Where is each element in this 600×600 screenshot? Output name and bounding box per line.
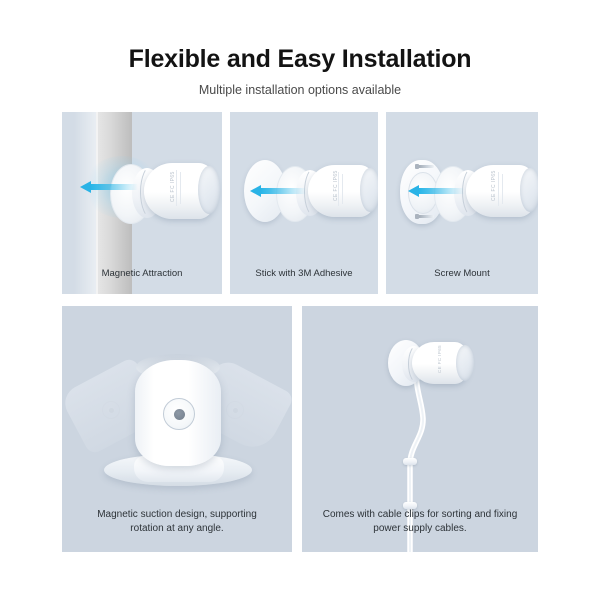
camera-lens-face: [520, 168, 538, 212]
camera-seam: [462, 167, 484, 217]
screw-icon: [418, 165, 434, 168]
camera-lens-face: [198, 166, 220, 214]
camera-vent: [498, 172, 499, 206]
left-arrow-icon: [80, 181, 138, 193]
panel-caption-line2: power supply cables.: [302, 522, 538, 536]
panel-caption-line1: Comes with cable clips for sorting and f…: [302, 508, 538, 522]
security-camera: CE FC IP65: [402, 340, 482, 388]
camera-vent: [338, 172, 339, 206]
panel-caption-line1: Magnetic suction design, supporting: [62, 508, 292, 522]
camera-seam: [140, 165, 164, 219]
camera-lens-face: [456, 345, 474, 381]
panel-caption: Screw Mount: [386, 267, 538, 280]
camera-lens: [163, 398, 195, 430]
panel-caption: Magnetic Attraction: [62, 267, 222, 280]
camera-seam: [304, 167, 326, 217]
panel-caption: Stick with 3M Adhesive: [230, 267, 378, 280]
page-subtitle: Multiple installation options available: [0, 82, 600, 98]
left-arrow-icon: [408, 185, 464, 197]
infographic-page: Flexible and Easy Installation Multiple …: [0, 0, 600, 600]
panel-cable-clips: CE FC IP65 Comes with cable clips for so…: [302, 306, 538, 552]
camera-seam: [408, 344, 428, 384]
panel-rotation: Magnetic suction design, supporting rota…: [62, 306, 292, 552]
camera-certification-marks: CE FC IP65: [491, 169, 497, 201]
security-camera: CE FC IP65: [110, 158, 222, 228]
panel-adhesive: CE FC IP65 Stick with 3M Adhesive: [230, 112, 378, 294]
camera-certification-marks: CE FC IP65: [437, 345, 443, 373]
panel-magnetic-attraction: CE FC IP65 Magnetic Attraction: [62, 112, 222, 294]
camera-vent: [342, 174, 343, 204]
camera-lens-face: [360, 168, 378, 212]
left-arrow-icon: [250, 185, 306, 197]
panel-caption-line2: rotation at any angle.: [62, 522, 292, 536]
panel-screw-mount: CE FC IP65 Screw Mount: [386, 112, 538, 294]
page-title: Flexible and Easy Installation: [0, 44, 600, 74]
panel-caption: Comes with cable clips for sorting and f…: [302, 508, 538, 536]
panel-caption: Magnetic suction design, supporting rota…: [62, 508, 292, 536]
camera-vent: [176, 170, 177, 206]
cable-clip: [403, 458, 417, 465]
camera-vent: [180, 172, 181, 204]
camera-vent: [502, 174, 503, 204]
header: Flexible and Easy Installation Multiple …: [0, 44, 600, 98]
screw-icon: [418, 215, 434, 218]
